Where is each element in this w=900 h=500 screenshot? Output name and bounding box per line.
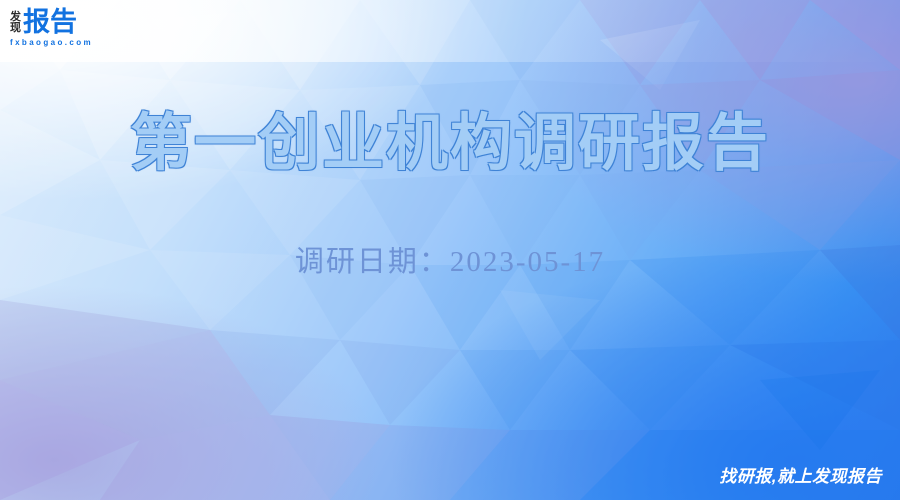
logo-row: 发 现 报告 [10, 9, 77, 36]
survey-date-subtitle: 调研日期：2023-05-17 [0, 238, 900, 280]
site-logo[interactable]: 发 现 报告 fxbaogao.com [10, 9, 93, 47]
brand-slogan: 找研报,就上发现报告 [719, 462, 882, 487]
logo-wordmark: 报告 [23, 9, 77, 36]
report-cover: 发 现 报告 fxbaogao.com 第一创业机构调研报告 调研日期：2023… [0, 0, 900, 500]
logo-mark-bottom: 现 [10, 23, 21, 34]
logo-url: fxbaogao.com [10, 38, 93, 47]
logo-mark-icon: 发 现 [10, 11, 21, 34]
page-title: 第一创业机构调研报告 [0, 92, 900, 182]
